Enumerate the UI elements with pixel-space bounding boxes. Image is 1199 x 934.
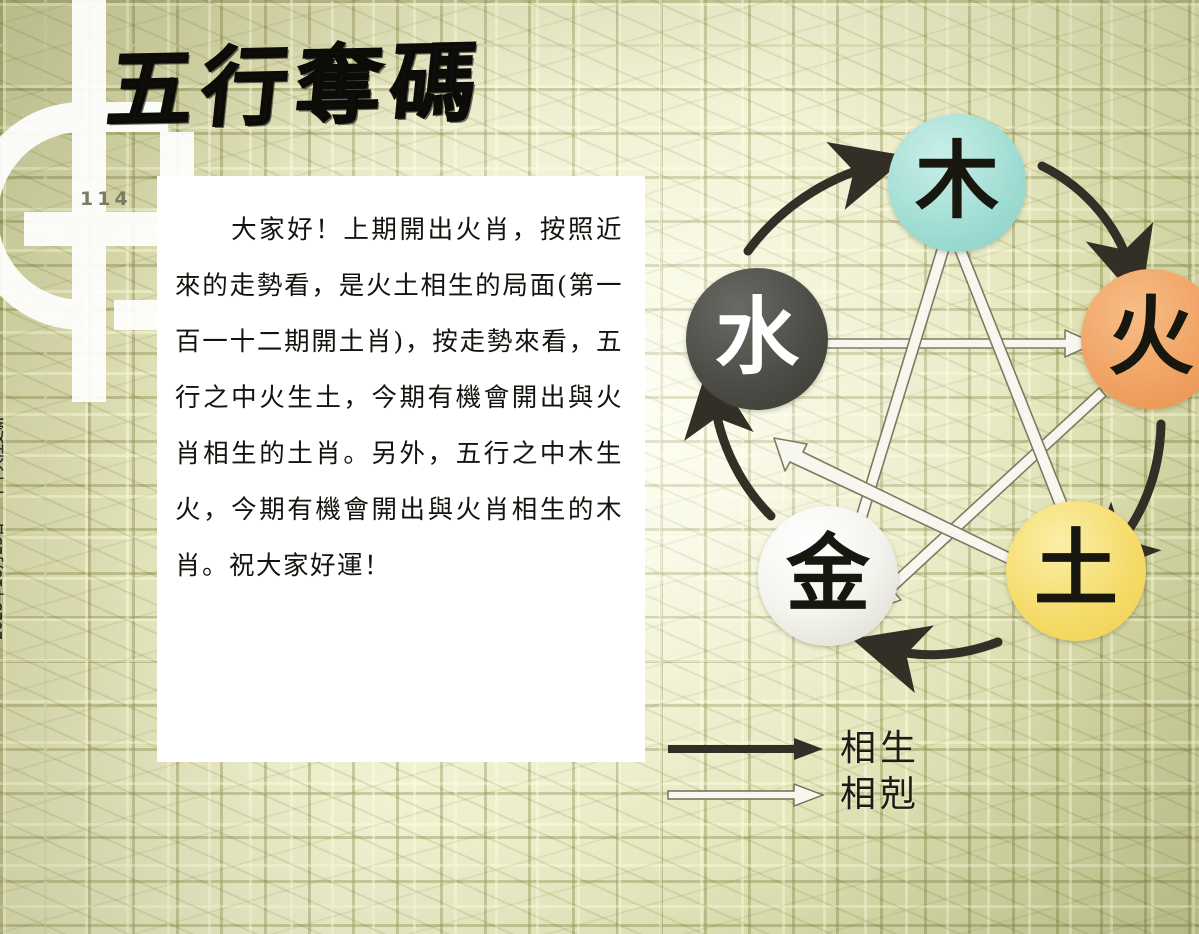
element-circle-earth[interactable]: 土 [1006, 501, 1146, 641]
article-panel: 大家好！上期開出火肖，按照近來的走勢看，是火土相生的局面(第一百一十二期開土肖)… [157, 176, 645, 762]
element-circle-wood[interactable]: 木 [888, 114, 1026, 252]
overcoming-arrow-icon [666, 782, 826, 808]
element-label-water: 水 [715, 295, 799, 379]
element-circle-water[interactable]: 水 [686, 268, 828, 410]
legend-label-generating: 相生 [840, 731, 920, 767]
slide-canvas: 114 2025年10月23日 — 下午大陸更新 五行奪碼 大家好！上期開出火肖… [0, 0, 1199, 934]
legend: 相生 相剋 [666, 726, 966, 818]
page-number: 114 [80, 188, 132, 210]
element-label-fire: 火 [1108, 294, 1194, 380]
element-label-earth: 土 [1034, 527, 1118, 611]
update-date-strip: 2025年10月23日 — 下午大陸更新 [0, 416, 6, 640]
element-circle-metal[interactable]: 金 [758, 506, 898, 646]
page-title: 五行奪碼 [103, 40, 489, 134]
five-elements-diagram: 水 木 火 土 金 [648, 96, 1199, 676]
article-body: 大家好！上期開出火肖，按照近來的走勢看，是火土相生的局面(第一百一十二期開土肖)… [175, 202, 623, 594]
legend-row-overcoming: 相剋 [666, 772, 966, 818]
legend-label-overcoming: 相剋 [840, 777, 920, 813]
legend-row-generating: 相生 [666, 726, 966, 772]
element-label-metal: 金 [786, 532, 870, 616]
element-label-wood: 木 [915, 139, 999, 223]
generating-arrow-icon [666, 736, 826, 762]
